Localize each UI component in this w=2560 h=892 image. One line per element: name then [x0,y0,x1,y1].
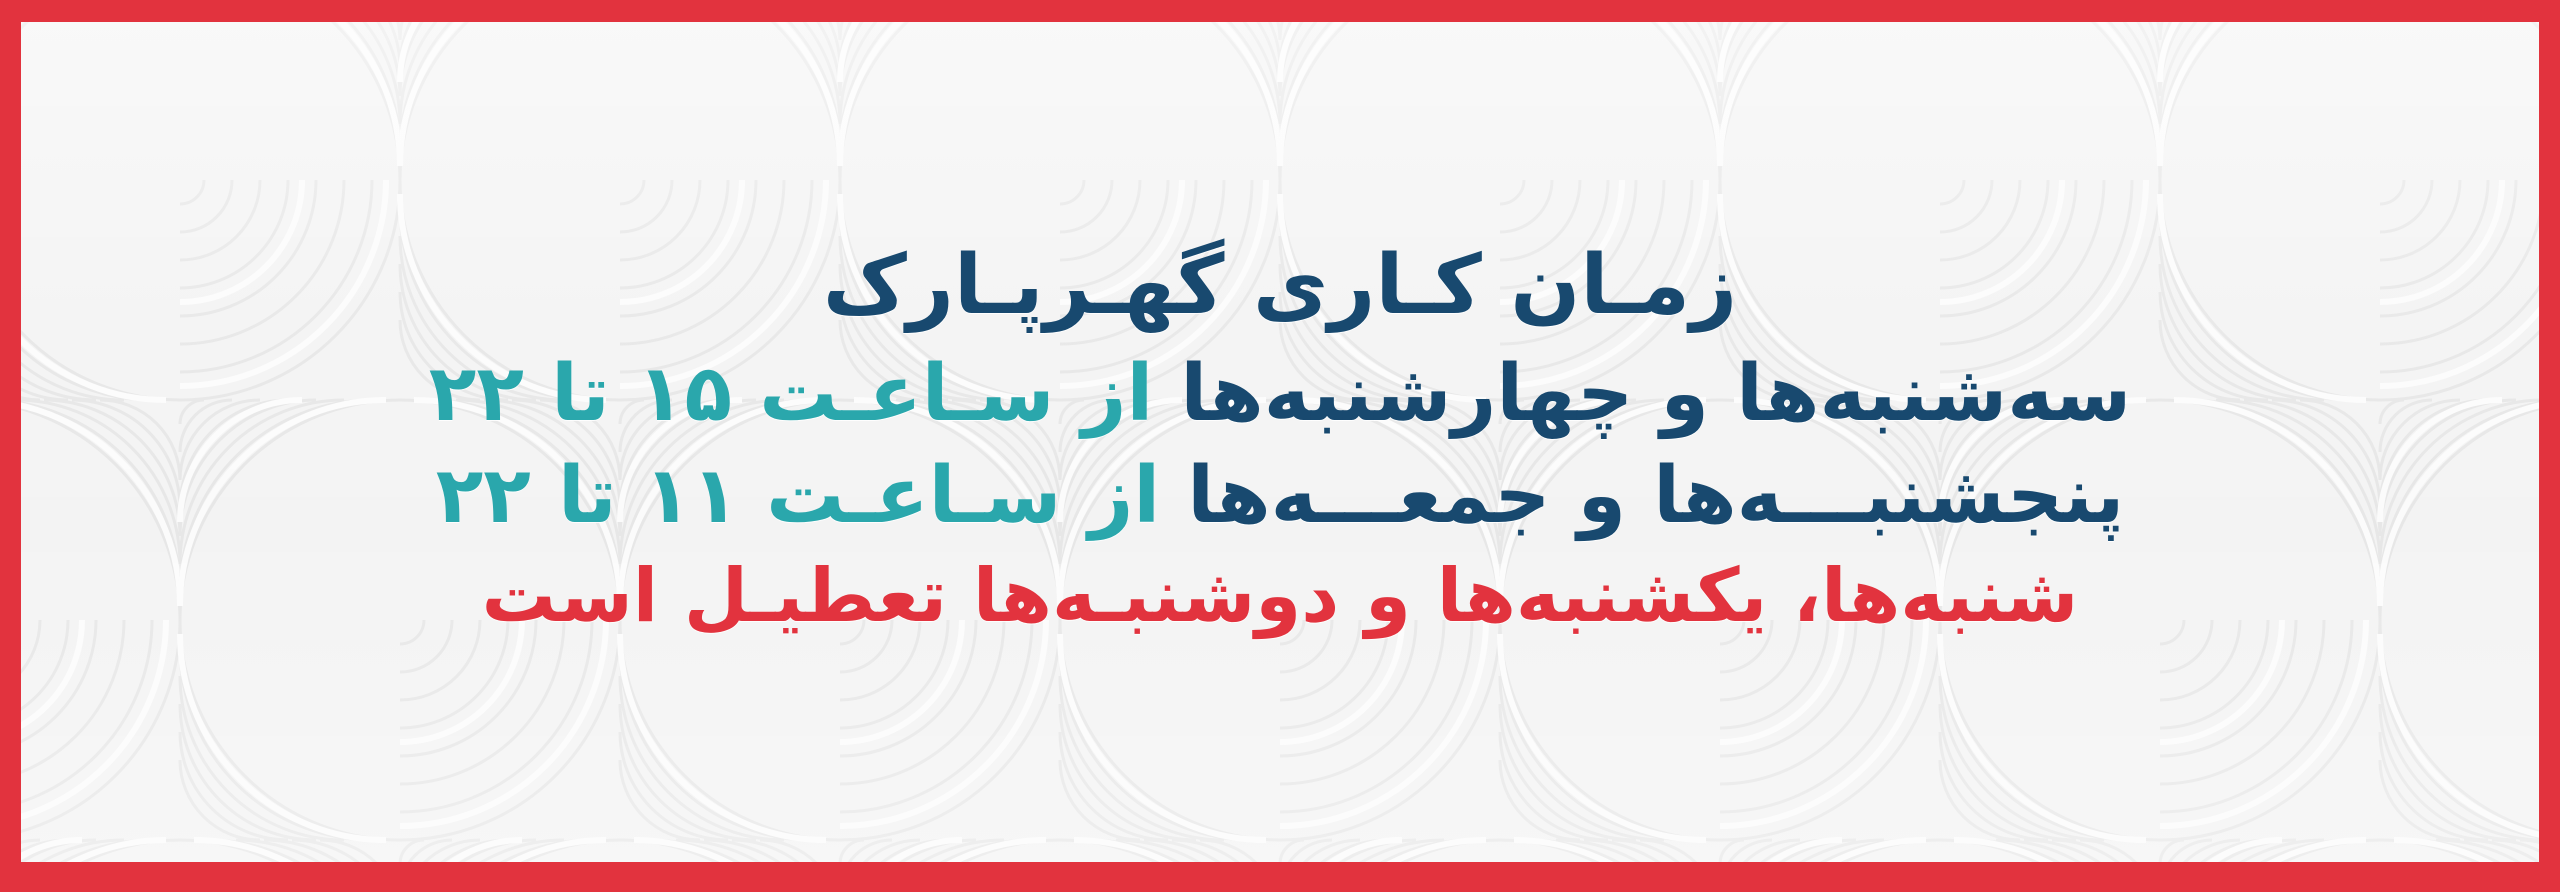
days-label-tuesday-wednesday: سه‌شنبه‌ها و چهارشنبه‌ها [1153,349,2131,439]
closed-days-row: شنبه‌ها، یکشنبه‌ها و دوشنبـه‌ها تعطیـل ا… [482,559,2079,633]
working-hours-banner: زمـان کـاری گهـرپـارک سه‌شنبه‌ها و چهارش… [0,0,2560,892]
title-text: زمـان کـاری گهـرپـارک [823,238,1737,333]
closed-days-label: شنبه‌ها، یکشنبه‌ها و دوشنبـه‌ها تعطیـل ا… [482,553,2079,639]
hours-row-tuesday-wednesday: سه‌شنبه‌ها و چهارشنبه‌ها از سـاعـت ۱۵ تا… [429,355,2131,433]
days-label-thursday-friday: پنجشنبـــه‌ها و جمعـــه‌ها [1160,451,2124,541]
hours-label-thursday-friday: از سـاعـت ۱۱ تا ۲۲ [436,451,1160,541]
banner-text-block: زمـان کـاری گهـرپـارک سه‌شنبه‌ها و چهارش… [0,0,2560,892]
banner-title: زمـان کـاری گهـرپـارک [823,245,1737,327]
hours-row-thursday-friday: پنجشنبـــه‌ها و جمعـــه‌ها از سـاعـت ۱۱ … [436,457,2125,535]
hours-label-tuesday-wednesday: از سـاعـت ۱۵ تا ۲۲ [429,349,1153,439]
